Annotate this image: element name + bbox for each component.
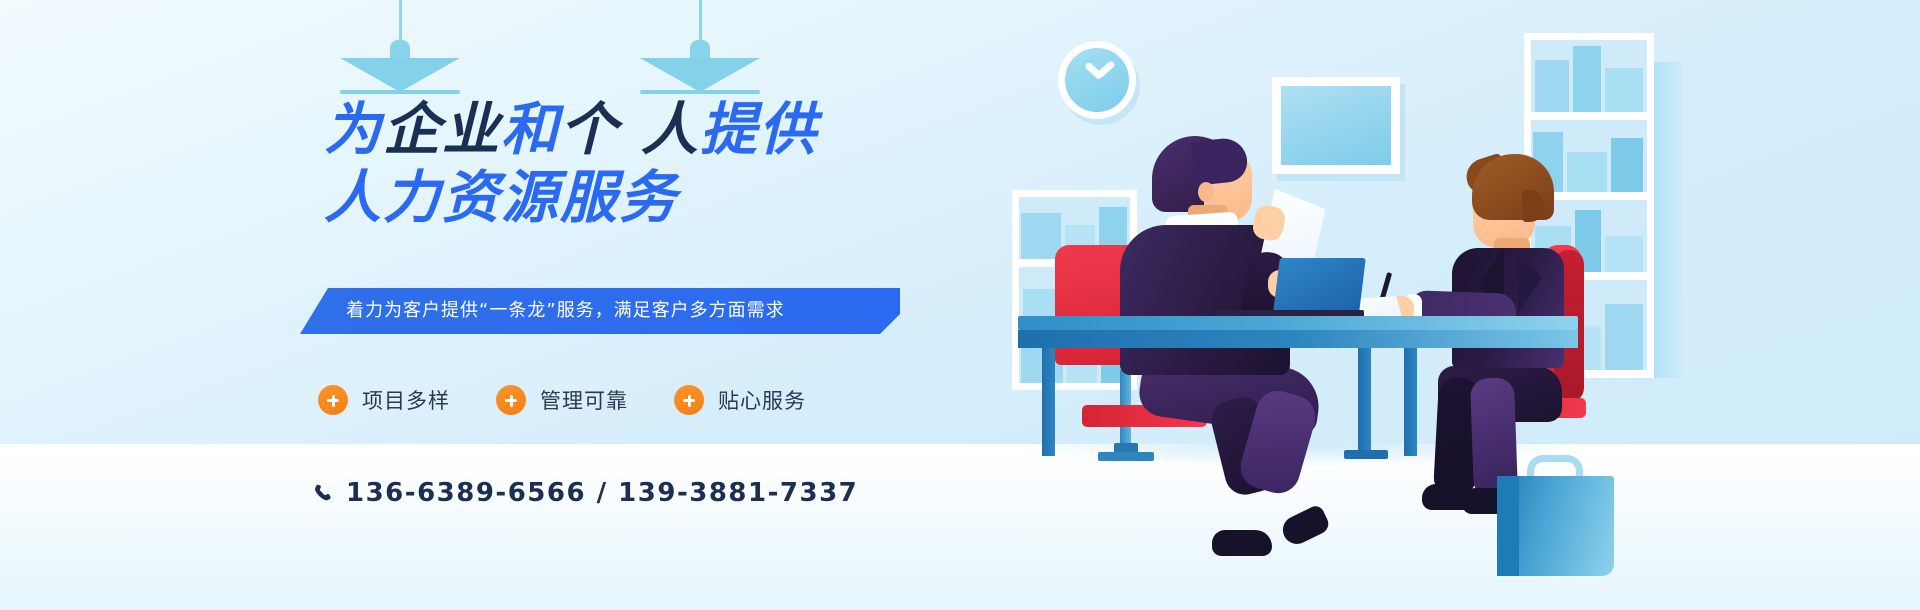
headline: 为企业和个 人提供 人力资源服务 — [324, 99, 818, 229]
plus-icon — [318, 385, 348, 415]
feature-label: 项目多样 — [362, 385, 450, 415]
desk-edge — [1018, 330, 1578, 348]
headline-line1: 为企业和个 人提供 — [324, 97, 818, 163]
briefcase-side — [1497, 476, 1519, 576]
phone-number: 136-6389-6566 / 139-3881-7337 — [346, 478, 858, 508]
feature-item-3[interactable]: 贴心服务 — [674, 385, 806, 415]
headline-seg-2: 企业 — [383, 97, 501, 163]
desk-leg — [1404, 348, 1417, 456]
subtitle-text: 着力为客户提供“一条龙”服务，满足客户多方面需求 — [346, 288, 785, 334]
headline-seg-3: 和 — [501, 97, 560, 163]
wall-clock-icon — [1058, 41, 1136, 119]
picture-frame — [1272, 77, 1400, 174]
plus-icon — [674, 385, 704, 415]
feature-label: 管理可靠 — [540, 385, 628, 415]
headline-seg-4: 个 人 — [560, 97, 700, 163]
desk-leg — [1358, 348, 1371, 456]
office-chair-left-foot — [1098, 452, 1154, 461]
headline-seg-5: 提供 — [700, 97, 818, 163]
feature-label: 贴心服务 — [718, 385, 806, 415]
feature-list: 项目多样 管理可靠 贴心服务 — [318, 385, 806, 415]
desk-surface — [1018, 316, 1578, 330]
desk-foot — [1344, 450, 1388, 459]
hero-text-content: 为企业和个 人提供 人力资源服务 着力为客户提供“一条龙”服务，满足客户多方面需… — [0, 0, 960, 610]
phone-icon — [313, 482, 333, 504]
feature-item-2[interactable]: 管理可靠 — [496, 385, 628, 415]
desk-leg — [1042, 348, 1055, 456]
headline-seg-1: 为 — [324, 97, 383, 163]
plus-icon — [496, 385, 526, 415]
bookshelf-side-panel — [1654, 62, 1682, 378]
feature-item-1[interactable]: 项目多样 — [318, 385, 450, 415]
headline-line2: 人力资源服务 — [324, 167, 818, 229]
hero-banner: 为企业和个 人提供 人力资源服务 着力为客户提供“一条龙”服务，满足客户多方面需… — [0, 0, 1920, 610]
contact-phone[interactable]: 136-6389-6566 / 139-3881-7337 — [313, 478, 858, 508]
